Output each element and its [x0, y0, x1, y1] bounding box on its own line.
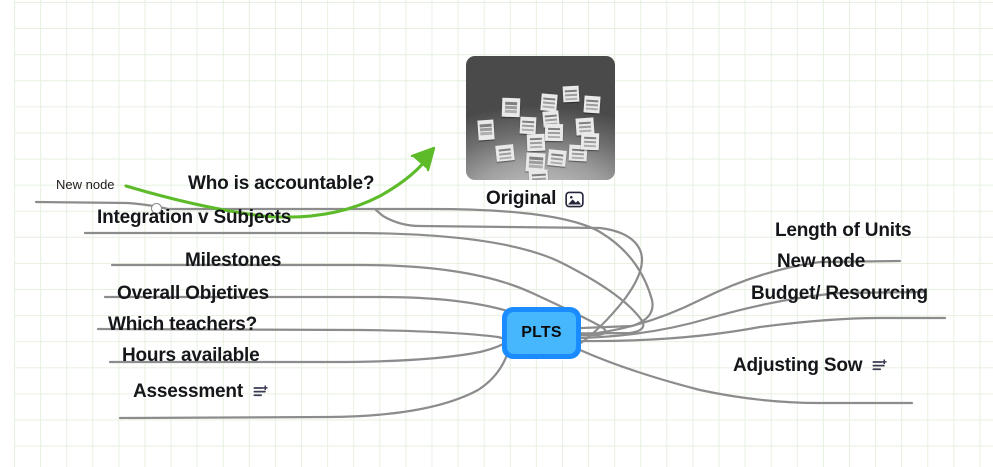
node-label-new-node-left[interactable]: New node — [56, 177, 115, 192]
note-add-icon[interactable] — [253, 385, 270, 400]
node-adjusting-sow[interactable]: Adjusting Sow — [733, 355, 889, 377]
node-label-hours-available[interactable]: Hours available — [122, 345, 259, 367]
image-node-caption-label: Original — [486, 188, 556, 210]
node-label-overall-objetives[interactable]: Overall Objetives — [117, 283, 269, 305]
node-label-adjusting-sow: Adjusting Sow — [733, 355, 862, 377]
whiteboard-photo — [466, 56, 615, 180]
image-icon[interactable] — [565, 190, 584, 209]
node-label-who-is-accountable[interactable]: Who is accountable? — [188, 173, 374, 195]
image-node-original[interactable] — [466, 56, 615, 180]
node-label-length-of-units[interactable]: Length of Units — [775, 220, 911, 242]
note-add-icon-2[interactable] — [872, 359, 889, 374]
node-assessment[interactable]: Assessment — [133, 381, 270, 403]
central-node-label: PLTS — [521, 324, 562, 342]
mindmap-canvas[interactable]: Original PLTS New node Who is accountabl… — [0, 0, 993, 467]
node-label-assessment: Assessment — [133, 381, 243, 403]
node-label-integration-v-subjects[interactable]: Integration v Subjects — [97, 207, 291, 229]
node-label-budget-resourcing[interactable]: Budget/ Resourcing — [751, 283, 928, 305]
central-node-plts[interactable]: PLTS — [502, 307, 581, 359]
image-node-caption[interactable]: Original — [486, 188, 584, 210]
edge-budget-resourcing — [580, 318, 945, 341]
node-label-new-node-right[interactable]: New node — [777, 251, 865, 273]
node-label-milestones[interactable]: Milestones — [185, 250, 281, 272]
central-node-inner: PLTS — [507, 312, 576, 354]
node-label-which-teachers[interactable]: Which teachers? — [108, 314, 257, 336]
